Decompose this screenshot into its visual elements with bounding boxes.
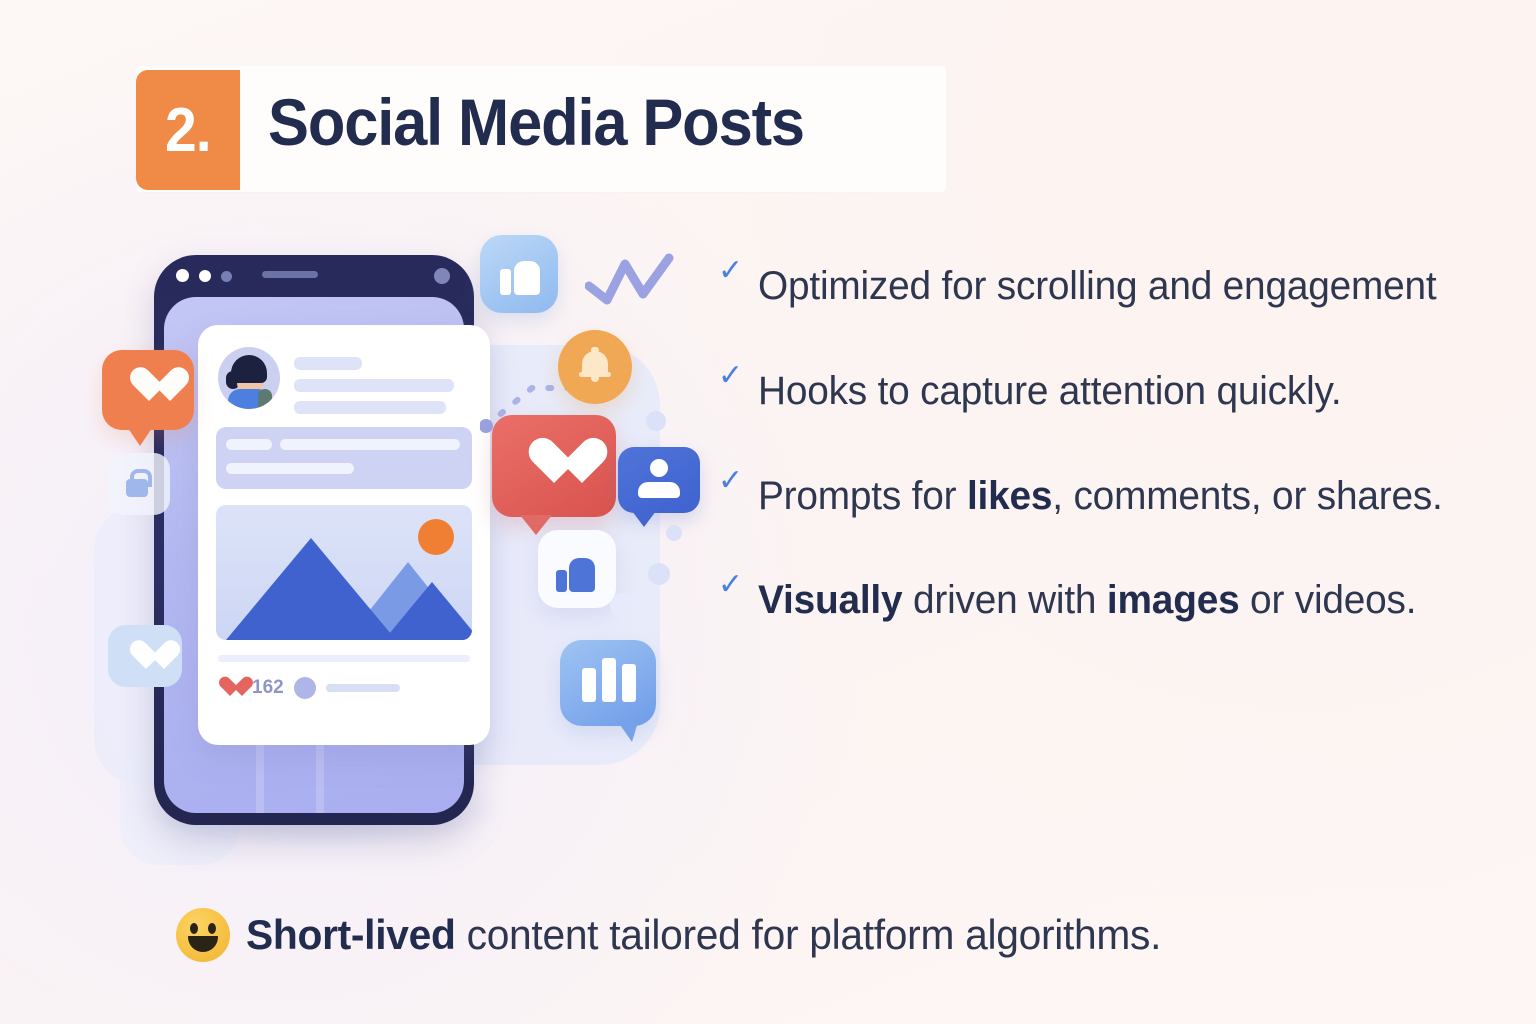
- heart-icon[interactable]: [218, 677, 242, 699]
- screen-tab: [256, 743, 264, 813]
- post-body-block: [216, 427, 472, 489]
- screen-tab: [316, 743, 324, 813]
- social-post-card[interactable]: 162: [198, 325, 490, 745]
- bullet-4-segment-2: driven with: [902, 578, 1107, 622]
- like-count: 162: [252, 677, 284, 699]
- decorative-dot: [610, 593, 636, 619]
- post-meta-row: 162: [218, 677, 400, 699]
- check-icon: ✓: [718, 361, 758, 391]
- placeholder-line: [294, 379, 454, 392]
- bullet-3-segment-2: likes: [967, 474, 1052, 518]
- placeholder-line: [294, 357, 362, 370]
- chart-bar: [602, 658, 616, 702]
- list-item: ✓ Optimized for scrolling and engagement: [718, 248, 1508, 325]
- decorative-dot: [646, 411, 666, 431]
- caption-placeholder-line: [218, 655, 470, 662]
- list-item: ✓ Hooks to capture attention quickly.: [718, 353, 1508, 430]
- mountain-shape: [384, 582, 472, 640]
- list-item-text: Visually driven with images or videos.: [758, 562, 1486, 639]
- placeholder-line: [226, 439, 272, 450]
- list-item-text: Hooks to capture attention quickly.: [758, 353, 1486, 430]
- list-item: ✓ Visually driven with images or videos.: [718, 562, 1508, 639]
- comment-placeholder-line: [326, 684, 400, 692]
- chart-bar: [622, 664, 636, 702]
- camera-dot-icon: [221, 271, 232, 282]
- social-media-illustration: 162: [80, 225, 710, 875]
- heart-bubble-icon: [492, 415, 616, 517]
- placeholder-line: [280, 439, 460, 450]
- bell-icon: [558, 330, 632, 404]
- list-item-text: Prompts for likes, comments, or shares.: [758, 458, 1486, 535]
- sun-icon: [418, 519, 454, 555]
- front-camera-icon: [434, 268, 450, 284]
- avatar-arm: [258, 389, 272, 409]
- check-icon: ✓: [718, 570, 758, 600]
- bubble-tail: [128, 428, 152, 446]
- benefits-list: ✓ Optimized for scrolling and engagement…: [718, 248, 1508, 667]
- camera-dot-icon: [199, 270, 211, 282]
- heart-glyph: [526, 439, 582, 491]
- person-glyph: [638, 482, 680, 498]
- infographic-slide: 2. Social Media Posts: [0, 0, 1536, 1024]
- speaker-bar: [262, 271, 318, 278]
- decorative-dot: [648, 563, 670, 585]
- list-item-text: Optimized for scrolling and engagement: [758, 248, 1486, 325]
- mountain-shape: [226, 538, 396, 640]
- bullet-4-segment-4: or videos.: [1239, 578, 1416, 622]
- bubble-tail: [632, 511, 656, 527]
- check-icon: ✓: [718, 256, 758, 286]
- step-number-label: 2.: [165, 95, 211, 166]
- bullet-3-segment-3: , comments, or shares.: [1052, 474, 1442, 518]
- thumbs-up-icon: [480, 235, 558, 313]
- list-item: ✓ Prompts for likes, comments, or shares…: [718, 458, 1508, 535]
- chart-bar: [582, 668, 596, 702]
- footer-segment-1: Short-lived: [246, 911, 456, 958]
- post-photo: [216, 505, 472, 640]
- placeholder-line: [294, 401, 446, 414]
- heart-orange-bubble-icon: [102, 350, 194, 430]
- bullet-4-segment-1: Visually: [758, 578, 902, 622]
- step-number-badge: 2.: [136, 70, 240, 190]
- placeholder-line: [226, 463, 354, 474]
- chart-bubble-icon: [560, 640, 656, 726]
- footer-note: Short-lived content tailored for platfor…: [176, 908, 1189, 962]
- bullet-3-segment-1: Prompts for: [758, 474, 967, 518]
- avatar: [218, 347, 280, 409]
- heart-glyph: [128, 641, 164, 673]
- page-title: Social Media Posts: [268, 84, 804, 160]
- bullet-4-segment-3: images: [1107, 578, 1240, 622]
- comment-avatar-dot: [294, 677, 316, 699]
- thumb-glyph: [500, 253, 540, 295]
- heart-glyph: [128, 368, 170, 406]
- footer-segment-2: content tailored for platform algorithms…: [456, 911, 1162, 958]
- person-bubble-icon: [618, 447, 700, 513]
- avatar-hair: [231, 355, 267, 383]
- zigzag-line-icon: [585, 250, 675, 310]
- person-glyph: [650, 459, 668, 477]
- heart-light-icon: [108, 625, 182, 687]
- bubble-tail: [618, 722, 638, 742]
- grinning-face-emoji-icon: [176, 908, 230, 962]
- footer-text: Short-lived content tailored for platfor…: [246, 911, 1161, 959]
- check-icon: ✓: [718, 466, 758, 496]
- lock-icon: [108, 453, 170, 515]
- bullet-2-text: Hooks to capture attention quickly.: [758, 369, 1341, 413]
- decorative-dot: [666, 525, 682, 541]
- thumbs-up-card-icon: [538, 530, 616, 608]
- bell-glyph: [579, 347, 611, 381]
- camera-dot-icon: [176, 269, 189, 282]
- bullet-1-line-1: Optimized for scrolling and engagement: [758, 264, 1436, 308]
